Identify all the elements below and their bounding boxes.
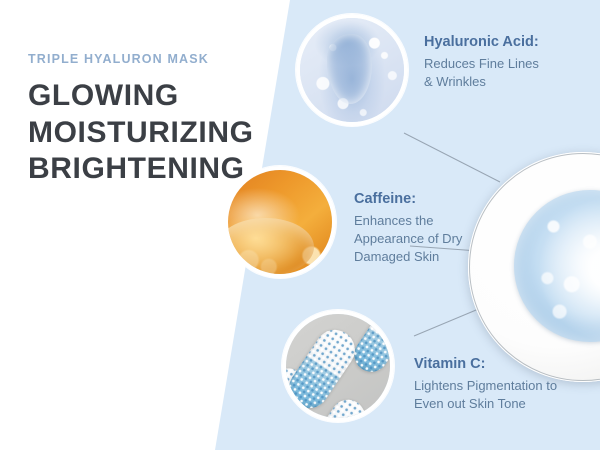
ingredient-image-vitamin-c — [282, 310, 394, 422]
ingredient-name-hyaluronic-acid: Hyaluronic Acid — [424, 34, 534, 50]
product-jar-image — [468, 152, 600, 382]
ingredient-info-caffeine: Caffeine: Enhances the Appearance of Dry… — [354, 190, 504, 267]
desc-line: Enhances the — [354, 212, 504, 230]
ingredient-image-caffeine — [224, 166, 336, 278]
gel-texture-icon — [296, 14, 408, 126]
infographic-canvas: TRIPLE HYALURON MASK GLOWING MOISTURIZIN… — [0, 0, 600, 450]
ingredient-name-caffeine: Caffeine — [354, 191, 411, 207]
brand-eyebrow: TRIPLE HYALURON MASK — [28, 52, 268, 66]
ingredient-title-hyaluronic-acid: Hyaluronic Acid: — [424, 33, 596, 53]
headline-block: TRIPLE HYALURON MASK GLOWING MOISTURIZIN… — [28, 52, 268, 188]
ingredient-description-caffeine: Enhances the Appearance of Dry Damaged S… — [354, 212, 504, 267]
ingredient-title-caffeine: Caffeine: — [354, 190, 504, 210]
ingredient-description-hyaluronic-acid: Reduces Fine Lines & Wrinkles — [424, 55, 596, 92]
ingredient-title-vitamin-c: Vitamin C: — [414, 355, 600, 375]
ingredient-info-vitamin-c: Vitamin C: Lightens Pigmentation to Even… — [414, 355, 600, 413]
headline-line-1: GLOWING — [28, 78, 268, 115]
oil-droplet-icon — [224, 166, 336, 278]
desc-line: Lightens Pigmentation to — [414, 377, 600, 395]
capsule-texture-icon — [282, 310, 394, 422]
ingredient-name-vitamin-c: Vitamin C — [414, 356, 481, 372]
headline-line-2: MOISTURIZING — [28, 115, 268, 152]
page-title: GLOWING MOISTURIZING BRIGHTENING — [28, 78, 268, 188]
ingredient-colon-vitamin-c: : — [481, 356, 486, 372]
desc-line: Damaged Skin — [354, 248, 504, 266]
desc-line: Reduces Fine Lines — [424, 55, 596, 73]
ingredient-colon-caffeine: : — [411, 191, 416, 207]
ingredient-info-hyaluronic-acid: Hyaluronic Acid: Reduces Fine Lines & Wr… — [424, 33, 596, 91]
ingredient-image-hyaluronic-acid — [296, 14, 408, 126]
desc-line: & Wrinkles — [424, 73, 596, 91]
desc-line: Appearance of Dry — [354, 230, 504, 248]
ingredient-colon-hyaluronic-acid: : — [534, 34, 539, 50]
ingredient-description-vitamin-c: Lightens Pigmentation to Even out Skin T… — [414, 377, 600, 414]
desc-line: Even out Skin Tone — [414, 395, 600, 413]
headline-line-3: BRIGHTENING — [28, 151, 268, 188]
